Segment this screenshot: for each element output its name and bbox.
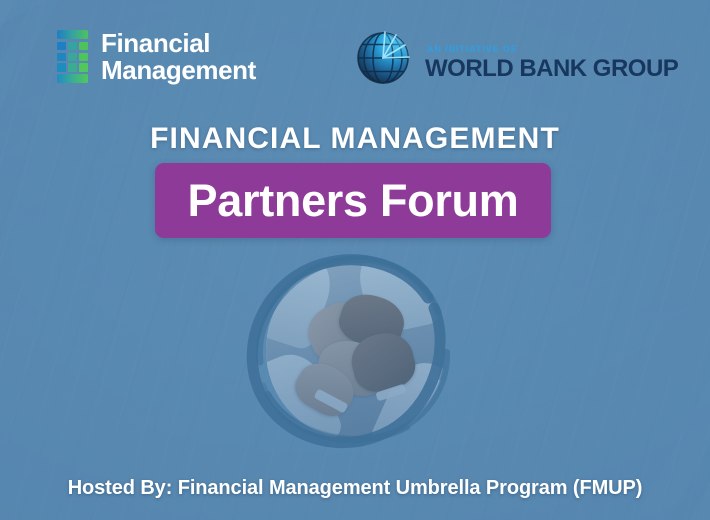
partners-forum-banner: Partners Forum bbox=[155, 163, 551, 238]
world-bank-initiative-label: AN INITIATIVE OF bbox=[427, 44, 517, 54]
fm-wordmark-line1: Financial bbox=[101, 28, 210, 58]
financial-management-logo: Financial Management bbox=[57, 30, 256, 84]
poster-canvas: Financial Management bbox=[0, 0, 710, 520]
world-bank-group-name: WORLD BANK GROUP bbox=[425, 55, 678, 82]
brush-stroke-ring bbox=[238, 244, 470, 458]
hosted-by-text: Hosted By: Financial Management Umbrella… bbox=[0, 477, 710, 500]
financial-management-wordmark: Financial Management bbox=[101, 30, 256, 84]
header-logo-row: Financial Management bbox=[0, 0, 710, 108]
fm-wordmark-line2: Management bbox=[101, 55, 256, 85]
stacked-hands-teamwork-photo bbox=[238, 244, 470, 458]
world-bank-group-logo: AN INITIATIVE OF WORLD BANK GROUP bbox=[352, 27, 710, 89]
partners-forum-title: Partners Forum bbox=[188, 178, 519, 223]
world-bank-wordmark: AN INITIATIVE OF WORLD BANK GROUP bbox=[425, 36, 710, 81]
event-kicker-title: FINANCIAL MANAGEMENT bbox=[0, 122, 710, 156]
financial-management-grid-mark bbox=[57, 30, 88, 83]
world-bank-globe-icon bbox=[352, 27, 414, 89]
